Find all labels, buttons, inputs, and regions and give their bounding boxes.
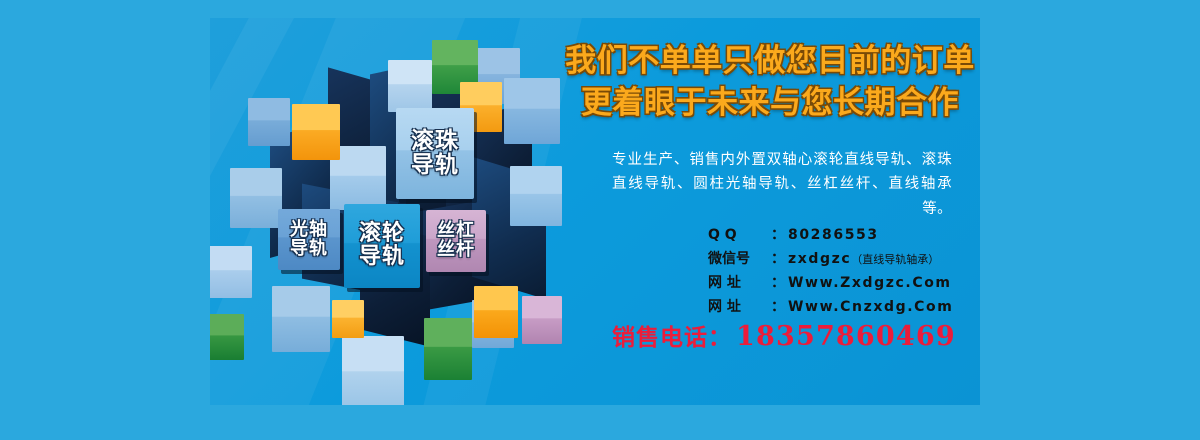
decorative-cube — [424, 318, 472, 380]
contact-row-qq: Q Q ： 80286553 — [708, 223, 953, 247]
decorative-cube — [388, 60, 432, 112]
decorative-cube — [248, 98, 290, 146]
decorative-cube — [342, 336, 404, 405]
cube-face — [292, 104, 340, 160]
cube-face — [210, 314, 244, 360]
sales-phone-label: 销售电话： — [612, 325, 732, 351]
contact-row-website-1: 网 址 ： Www.Zxdgzc.Com — [708, 271, 953, 295]
cube-face — [230, 168, 282, 228]
cube-face — [522, 296, 562, 344]
cube-face — [388, 60, 432, 112]
cube-face — [210, 246, 252, 298]
sales-phone[interactable]: 销售电话：18357860469 — [612, 318, 956, 352]
cube-face — [510, 166, 562, 226]
wechat-id-value[interactable]: zxdgzc — [788, 247, 851, 271]
contact-separator: ： — [771, 247, 785, 271]
cube-face — [272, 286, 330, 352]
description-text: 专业生产、销售内外置双轴心滚轮直线导轨、滚珠直线导轨、圆柱光轴导轨、丝杠丝杆、直… — [612, 148, 952, 221]
contact-separator: ： — [771, 223, 785, 247]
contact-label: 网 址 — [708, 295, 770, 319]
contact-label: Q Q — [708, 223, 770, 247]
product-cube-line: 导轨 — [411, 154, 459, 178]
wechat-note: （直线导轨轴承） — [851, 251, 939, 270]
product-cube-line: 滚轮 — [359, 223, 405, 246]
cube-face — [342, 336, 404, 405]
cube-face — [424, 318, 472, 380]
decorative-cube — [210, 246, 252, 298]
product-cube-guangzhou-daogui[interactable]: 光轴 导轨 — [278, 209, 340, 270]
cube-face — [504, 78, 560, 144]
decorative-cube — [210, 314, 244, 360]
contact-row-wechat: 微信号 ： zxdgzc （直线导轨轴承） — [708, 247, 953, 271]
contact-label: 网 址 — [708, 271, 770, 295]
product-cube-gunlun-daogui[interactable]: 滚轮 导轨 — [344, 204, 420, 288]
decorative-cube — [230, 168, 282, 228]
headline-line-1: 我们不单单只做您目前的订单 — [560, 40, 980, 82]
product-cube-line: 导轨 — [359, 246, 405, 269]
banner-panel: 滚珠 导轨 光轴 导轨 滚轮 导轨 丝杠 丝杆 我们不单单只做您目前的订单 更着… — [210, 18, 980, 405]
cube-cluster-graphic: 滚珠 导轨 光轴 导轨 滚轮 导轨 丝杠 丝杆 — [210, 18, 570, 405]
contact-label: 微信号 — [708, 247, 770, 271]
headline-line-2: 更着眼于未来与您长期合作 — [560, 82, 980, 124]
decorative-cube — [510, 166, 562, 226]
cube-face — [332, 300, 364, 338]
contact-separator: ： — [771, 271, 785, 295]
product-cube-sigang-sigan[interactable]: 丝杠 丝杆 — [426, 210, 486, 272]
contact-row-website-2: 网 址 ： Www.Cnzxdg.Com — [708, 295, 953, 319]
decorative-cube — [522, 296, 562, 344]
cube-face — [248, 98, 290, 146]
decorative-cube — [292, 104, 340, 160]
contact-separator: ： — [771, 295, 785, 319]
decorative-cube — [504, 78, 560, 144]
product-cube-gunzhu-daogui[interactable]: 滚珠 导轨 — [396, 108, 474, 199]
qq-number-value[interactable]: 80286553 — [788, 223, 879, 247]
banner-text-column: 我们不单单只做您目前的订单 更着眼于未来与您长期合作 专业生产、销售内外置双轴心… — [560, 18, 980, 405]
sales-phone-number[interactable]: 18357860469 — [736, 321, 956, 352]
website-url-1[interactable]: Www.Zxdgzc.Com — [788, 271, 952, 295]
product-cube-line: 导轨 — [290, 240, 328, 259]
product-cube-line: 丝杆 — [437, 241, 475, 260]
promo-banner: 滚珠 导轨 光轴 导轨 滚轮 导轨 丝杠 丝杆 我们不单单只做您目前的订单 更着… — [0, 0, 1200, 440]
contact-info-list: Q Q ： 80286553 微信号 ： zxdgzc （直线导轨轴承） 网 址… — [708, 223, 953, 319]
decorative-cube — [474, 286, 518, 338]
website-url-2[interactable]: Www.Cnzxdg.Com — [788, 295, 953, 319]
cube-face — [474, 286, 518, 338]
product-cube-line: 光轴 — [290, 221, 328, 240]
decorative-cube — [332, 300, 364, 338]
headline: 我们不单单只做您目前的订单 更着眼于未来与您长期合作 — [560, 40, 980, 124]
decorative-cube — [272, 286, 330, 352]
product-cube-line: 滚珠 — [411, 130, 459, 154]
